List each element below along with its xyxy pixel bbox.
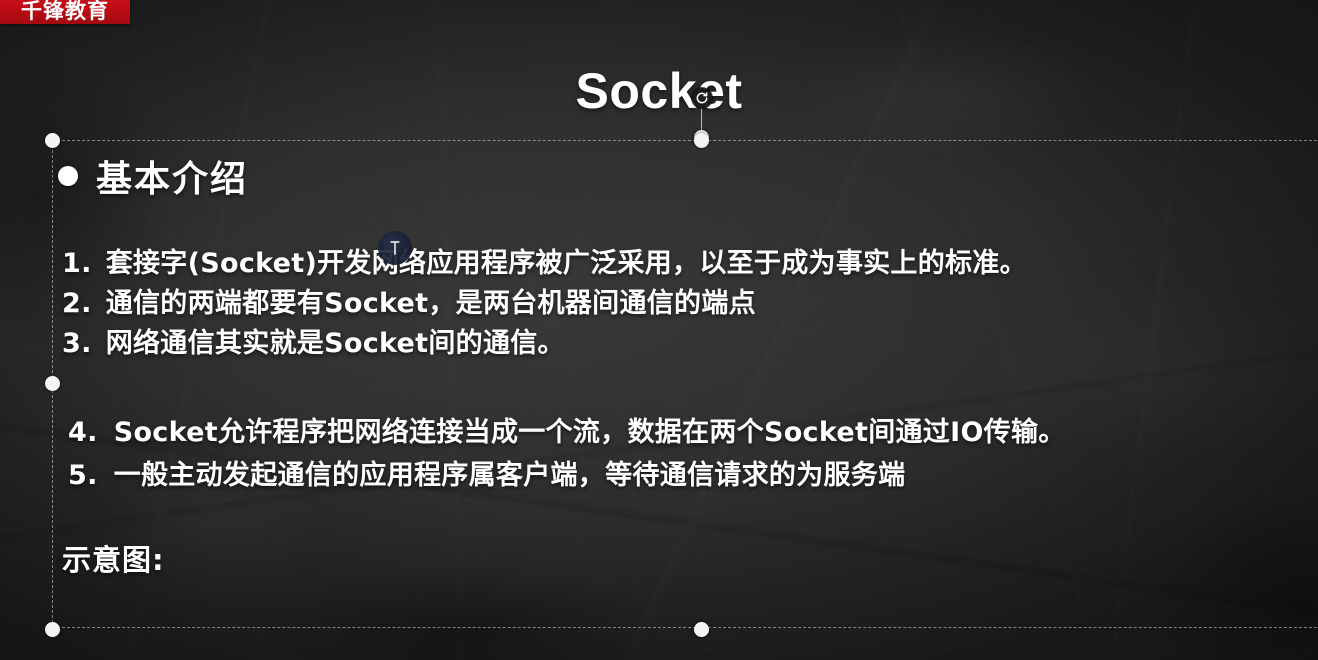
list-item-text: 通信的两端都要有Socket，是两台机器间通信的端点 <box>106 288 756 319</box>
section-heading-label: 基本介绍 <box>96 150 248 202</box>
rotation-handle-stem <box>701 106 702 132</box>
top-left-resize-handle[interactable] <box>45 133 60 148</box>
list-item-number: 1. <box>62 244 96 284</box>
rotate-icon[interactable] <box>692 88 712 108</box>
list-item: 5. 一般主动发起通信的应用程序属客户端，等待通信请求的为服务端 <box>68 454 1066 497</box>
section-heading[interactable]: 基本介绍 <box>58 150 248 202</box>
numbered-list-group-2[interactable]: 4. Socket允许程序把网络连接当成一个流，数据在两个Socket间通过IO… <box>68 411 1066 497</box>
list-item-number: 4. <box>68 411 104 454</box>
list-item: 1. 套接字(Socket)开发网络应用程序被广泛采用，以至于成为事实上的标准。 <box>62 244 1027 284</box>
list-item-number: 3. <box>62 324 96 364</box>
bottom-left-resize-handle[interactable] <box>45 622 60 637</box>
middle-left-resize-handle[interactable] <box>45 376 60 391</box>
list-item-text: 网络通信其实就是Socket间的通信。 <box>106 328 565 359</box>
text-cursor-icon <box>378 231 412 265</box>
slide-title[interactable]: Socket <box>0 62 1318 120</box>
brand-badge-label: 千锋教育 <box>21 1 109 24</box>
list-item-number: 2. <box>62 284 96 324</box>
top-center-resize-handle[interactable] <box>694 133 709 148</box>
list-item: 2. 通信的两端都要有Socket，是两台机器间通信的端点 <box>62 284 1027 324</box>
list-item: 4. Socket允许程序把网络连接当成一个流，数据在两个Socket间通过IO… <box>68 411 1066 454</box>
brand-badge: 千锋教育 <box>0 0 130 24</box>
list-item-number: 5. <box>68 454 104 497</box>
list-item-text: 套接字(Socket)开发网络应用程序被广泛采用，以至于成为事实上的标准。 <box>106 248 1027 279</box>
bottom-center-resize-handle[interactable] <box>694 622 709 637</box>
bullet-dot-icon <box>58 166 78 186</box>
diagram-label: 示意图: <box>62 537 165 579</box>
slide-canvas: 千锋教育 Socket 基本介绍 1. 套接字(Socket)开发网络应用程序被… <box>0 0 1318 660</box>
list-item-text: Socket允许程序把网络连接当成一个流，数据在两个Socket间通过IO传输。 <box>114 417 1066 448</box>
list-item-text: 一般主动发起通信的应用程序属客户端，等待通信请求的为服务端 <box>114 460 906 491</box>
list-item: 3. 网络通信其实就是Socket间的通信。 <box>62 324 1027 364</box>
numbered-list-group-1[interactable]: 1. 套接字(Socket)开发网络应用程序被广泛采用，以至于成为事实上的标准。… <box>62 244 1027 364</box>
content-placeholder-selection[interactable] <box>52 140 1318 628</box>
